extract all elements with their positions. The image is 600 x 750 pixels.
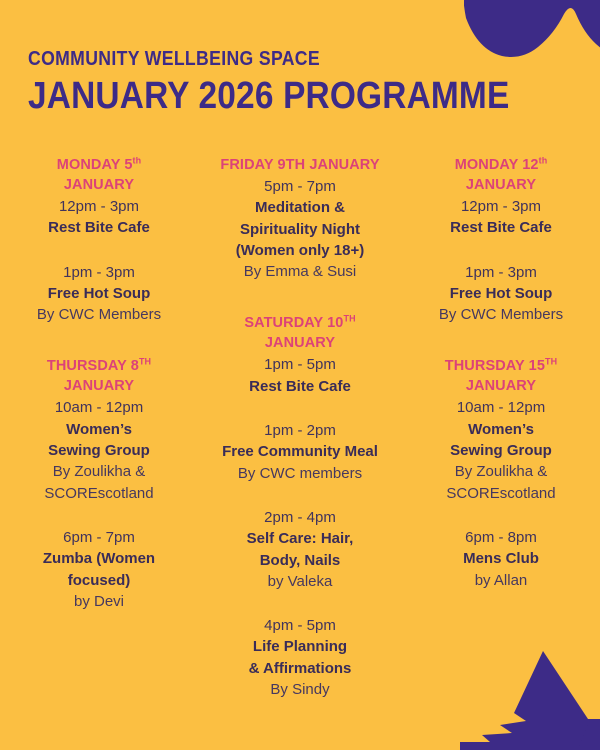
event-name: Rest Bite Cafe — [410, 217, 592, 238]
event-time: 4pm - 5pm — [202, 615, 398, 636]
page-title: JANUARY 2026 PROGRAMME — [28, 77, 503, 117]
event-time: 12pm - 3pm — [8, 196, 190, 217]
event-name: Women’s — [8, 419, 190, 440]
event-time: 1pm - 5pm — [202, 354, 398, 375]
event-name: Zumba (Women — [8, 548, 190, 569]
schedule-event: 1pm - 3pmFree Hot SoupBy CWC Members — [410, 262, 592, 326]
event-name: Rest Bite Cafe — [8, 217, 190, 238]
event-facilitator: By CWC Members — [410, 304, 592, 325]
event-name: Body, Nails — [202, 550, 398, 571]
event-time: 10am - 12pm — [410, 397, 592, 418]
event-facilitator: By Emma & Susi — [202, 261, 398, 282]
event-time: 12pm - 3pm — [410, 196, 592, 217]
event-facilitator: By CWC members — [202, 463, 398, 484]
event-name: Self Care: Hair, — [202, 528, 398, 549]
schedule-column-middle: FRIDAY 9TH JANUARY5pm - 7pmMeditation &S… — [198, 155, 402, 700]
event-name: Sewing Group — [8, 440, 190, 461]
event-name: & Affirmations — [202, 658, 398, 679]
event-name: Free Community Meal — [202, 441, 398, 462]
schedule-event: 2pm - 4pmSelf Care: Hair,Body, Nailsby V… — [202, 507, 398, 592]
schedule-day-block: FRIDAY 9TH JANUARY5pm - 7pmMeditation &S… — [202, 155, 398, 282]
schedule-event: 6pm - 7pmZumba (Womenfocused)by Devi — [8, 527, 190, 612]
date-ordinal-suffix: TH — [545, 357, 557, 367]
day-heading: MONDAY 5thJANUARY — [8, 155, 190, 195]
schedule-event: 5pm - 7pmMeditation &Spirituality Night(… — [202, 176, 398, 282]
schedule-day-block: MONDAY 5thJANUARY12pm - 3pmRest Bite Caf… — [8, 155, 190, 325]
event-name: Women’s — [410, 419, 592, 440]
date-ordinal-suffix: TH — [343, 314, 355, 324]
schedule-event: 1pm - 5pmRest Bite Cafe — [202, 354, 398, 397]
schedule-day-block: MONDAY 12thJANUARY12pm - 3pmRest Bite Ca… — [410, 155, 592, 325]
event-facilitator: by Valeka — [202, 571, 398, 592]
event-time: 6pm - 7pm — [8, 527, 190, 548]
day-heading: FRIDAY 9TH JANUARY — [202, 155, 398, 175]
event-time: 6pm - 8pm — [410, 527, 592, 548]
event-name: Spirituality Night — [202, 219, 398, 240]
day-heading: SATURDAY 10THJANUARY — [202, 313, 398, 353]
schedule-column-left: MONDAY 5thJANUARY12pm - 3pmRest Bite Caf… — [0, 155, 198, 612]
event-time: 5pm - 7pm — [202, 176, 398, 197]
schedule-grid: MONDAY 5thJANUARY12pm - 3pmRest Bite Caf… — [0, 155, 600, 700]
event-facilitator: by Devi — [8, 591, 190, 612]
event-name: Free Hot Soup — [410, 283, 592, 304]
schedule-column-right: MONDAY 12thJANUARY12pm - 3pmRest Bite Ca… — [402, 155, 600, 591]
event-name: Meditation & — [202, 197, 398, 218]
header-kicker: COMMUNITY WELLBEING SPACE — [28, 48, 492, 70]
event-time: 2pm - 4pm — [202, 507, 398, 528]
event-facilitator: By Zoulikha & — [8, 461, 190, 482]
date-ordinal-suffix: TH — [139, 357, 151, 367]
schedule-event: 4pm - 5pmLife Planning& AffirmationsBy S… — [202, 615, 398, 700]
schedule-event: 1pm - 2pmFree Community MealBy CWC membe… — [202, 420, 398, 484]
schedule-day-block: THURSDAY 8THJANUARY10am - 12pmWomen’sSew… — [8, 356, 190, 612]
date-ordinal-suffix: th — [539, 155, 548, 165]
event-time: 1pm - 2pm — [202, 420, 398, 441]
event-facilitator: by Allan — [410, 570, 592, 591]
event-time: 1pm - 3pm — [410, 262, 592, 283]
event-facilitator: By CWC Members — [8, 304, 190, 325]
schedule-event: 10am - 12pmWomen’sSewing GroupBy Zoulikh… — [410, 397, 592, 503]
schedule-day-block: SATURDAY 10THJANUARY1pm - 5pmRest Bite C… — [202, 313, 398, 700]
day-heading: THURSDAY 15THJANUARY — [410, 356, 592, 396]
schedule-event: 12pm - 3pmRest Bite Cafe — [410, 196, 592, 239]
event-facilitator: By Sindy — [202, 679, 398, 700]
event-name: Rest Bite Cafe — [202, 376, 398, 397]
event-name: Life Planning — [202, 636, 398, 657]
event-name: Sewing Group — [410, 440, 592, 461]
event-name: focused) — [8, 570, 190, 591]
poster-canvas: { "palette": { "background": "#FBBF42", … — [0, 0, 600, 750]
schedule-event: 12pm - 3pmRest Bite Cafe — [8, 196, 190, 239]
schedule-event: 6pm - 8pmMens Clubby Allan — [410, 527, 592, 591]
event-facilitator: SCOREscotland — [8, 483, 190, 504]
event-name: Mens Club — [410, 548, 592, 569]
schedule-day-block: THURSDAY 15THJANUARY10am - 12pmWomen’sSe… — [410, 356, 592, 590]
event-time: 1pm - 3pm — [8, 262, 190, 283]
event-facilitator: By Zoulikha & — [410, 461, 592, 482]
event-name: (Women only 18+) — [202, 240, 398, 261]
day-heading: THURSDAY 8THJANUARY — [8, 356, 190, 396]
event-name: Free Hot Soup — [8, 283, 190, 304]
day-heading: MONDAY 12thJANUARY — [410, 155, 592, 195]
poster-header: COMMUNITY WELLBEING SPACE JANUARY 2026 P… — [28, 48, 568, 116]
event-time: 10am - 12pm — [8, 397, 190, 418]
schedule-event: 10am - 12pmWomen’sSewing GroupBy Zoulikh… — [8, 397, 190, 503]
event-facilitator: SCOREscotland — [410, 483, 592, 504]
date-ordinal-suffix: th — [133, 155, 142, 165]
schedule-event: 1pm - 3pmFree Hot SoupBy CWC Members — [8, 262, 190, 326]
